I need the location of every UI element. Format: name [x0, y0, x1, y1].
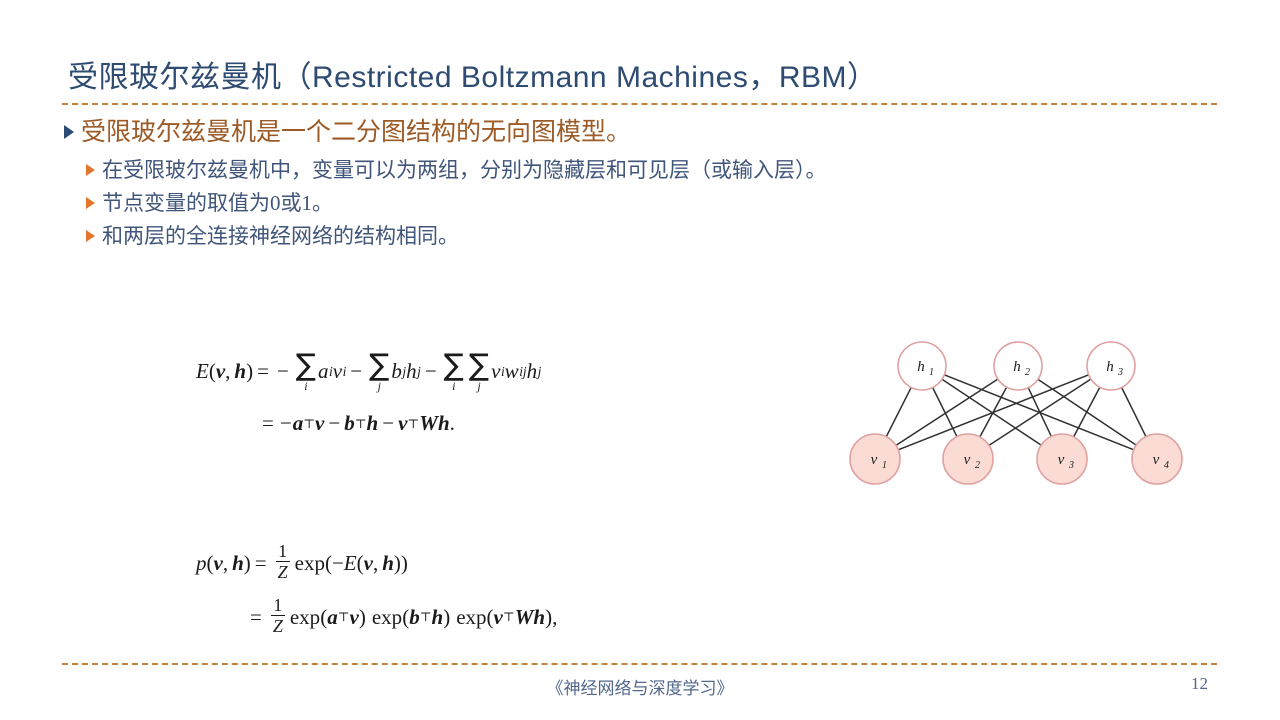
denominator: Z — [271, 617, 285, 636]
comma: , — [223, 551, 232, 576]
bullet-text: 和两层的全连接神经网络的结构相同。 — [102, 221, 459, 251]
transpose-mark: ⊤ — [503, 609, 515, 625]
graph-node-v1: v1 — [850, 434, 900, 484]
transpose-mark: ⊤ — [420, 609, 432, 625]
vector-v: v — [214, 551, 223, 576]
graph-node-h2: h2 — [994, 342, 1042, 390]
summation-over-i: ∑ i — [444, 353, 464, 392]
numerator: 1 — [271, 596, 284, 614]
vector-h: h — [232, 551, 244, 576]
sigma-glyph: ∑ — [444, 353, 464, 379]
paren: ( — [487, 605, 494, 630]
vector-v: v — [494, 605, 503, 630]
sum-index: i — [304, 380, 307, 392]
vector-v: v — [350, 605, 359, 630]
footer-divider — [62, 663, 1217, 665]
matrix-W: W — [419, 411, 438, 436]
paren: ( — [320, 605, 327, 630]
energy-formula-line-1: E ( v , h ) = − ∑ i aivi − ∑ j bjhj − ∑ … — [196, 352, 541, 391]
paren: ) — [244, 551, 251, 576]
exp-function: exp — [372, 605, 402, 630]
fraction-one-over-Z: 1 Z — [276, 542, 290, 582]
graph-node-h1: h1 — [898, 342, 946, 390]
minus-sign: − — [273, 359, 293, 384]
symbol-v: v — [491, 359, 500, 384]
list-item: 受限玻尔兹曼机是一个二分图结构的无向图模型。 — [64, 116, 1224, 149]
graph-nodes: h1h2h3v1v2v3v4 — [850, 342, 1182, 484]
graph-node-v2: v2 — [943, 434, 993, 484]
equals-sign: = — [246, 605, 266, 630]
node-label: v — [1153, 452, 1160, 468]
exp-function: exp — [295, 551, 325, 576]
symbol-w: w — [505, 359, 519, 384]
bullet-triangle-icon — [64, 125, 74, 139]
vector-a: a — [293, 411, 304, 436]
paren: ) — [246, 359, 253, 384]
node-subscript: 4 — [1164, 460, 1169, 471]
bullet-text: 节点变量的取值为0或1。 — [102, 188, 333, 218]
node-subscript: 2 — [1025, 367, 1030, 378]
graph-node-h3: h3 — [1087, 342, 1135, 390]
summation-over-i: ∑ i — [296, 353, 316, 392]
bullet-list: 受限玻尔兹曼机是一个二分图结构的无向图模型。 在受限玻尔兹曼机中，变量可以为两组… — [64, 116, 1224, 254]
sum-index: j — [378, 380, 381, 392]
probability-formula: p ( v , h ) = 1 Z exp(−E(v,h)) = 1 Z exp… — [196, 543, 557, 637]
rbm-bipartite-graph: h1h2h3v1v2v3v4 — [840, 330, 1200, 500]
paren: ( — [357, 551, 364, 576]
node-label: h — [1013, 359, 1021, 375]
symbol-a: a — [318, 359, 329, 384]
node-label: h — [1106, 359, 1114, 375]
graph-edge-h1-v1 — [886, 387, 911, 436]
graph-node-v3: v3 — [1037, 434, 1087, 484]
node-subscript: 3 — [1068, 460, 1074, 471]
bullet-text: 受限玻尔兹曼机是一个二分图结构的无向图模型。 — [81, 116, 631, 149]
vector-v: v — [315, 411, 324, 436]
bullet-triangle-icon — [86, 164, 95, 176]
exp-function: exp — [290, 605, 320, 630]
title-divider — [62, 103, 1217, 105]
denominator: Z — [276, 563, 290, 582]
probability-formula-line-2: = 1 Z exp(a⊤v) exp(b⊤h) exp(v⊤Wh), — [246, 597, 557, 637]
transpose-mark: ⊤ — [355, 416, 367, 432]
vector-h: h — [432, 605, 444, 630]
sum-index: j — [477, 380, 480, 392]
minus-sign: − — [324, 411, 344, 436]
sigma-glyph: ∑ — [369, 353, 389, 379]
graph-node-v4: v4 — [1132, 434, 1182, 484]
subscript: j — [537, 364, 541, 380]
slide-canvas: 受限玻尔兹曼机（Restricted Boltzmann Machines，RB… — [0, 0, 1280, 720]
list-item: 在受限玻尔兹曼机中，变量可以为两组，分别为隐藏层和可见层（或输入层）。 — [86, 155, 1224, 185]
paren: ) — [545, 605, 552, 630]
comma: , — [225, 359, 234, 384]
energy-formula-line-2: = − a⊤v − b⊤h − v⊤Wh. — [258, 411, 541, 436]
list-item: 节点变量的取值为0或1。 — [86, 188, 1224, 218]
probability-formula-line-1: p ( v , h ) = 1 Z exp(−E(v,h)) — [196, 543, 557, 583]
vector-a: a — [327, 605, 338, 630]
graph-edge-h2-v1 — [896, 379, 998, 445]
bullet-triangle-icon — [86, 197, 95, 209]
paren: ( — [209, 359, 216, 384]
symbol-h: h — [527, 359, 538, 384]
comma: , — [373, 551, 382, 576]
comma: , — [552, 605, 557, 630]
symbol-E: E — [196, 359, 209, 384]
vector-h: h — [234, 359, 246, 384]
node-subscript: 1 — [929, 367, 934, 378]
vector-v: v — [216, 359, 225, 384]
symbol-p: p — [196, 551, 207, 576]
vector-h: h — [382, 551, 394, 576]
node-label: v — [1058, 452, 1065, 468]
vector-h: h — [533, 605, 545, 630]
period: . — [450, 411, 455, 436]
fraction-one-over-Z: 1 Z — [271, 596, 285, 636]
footer-book-title: 《神经网络与深度学习》 — [0, 674, 1280, 699]
paren: ) — [401, 551, 408, 576]
summation-over-j: ∑ j — [469, 353, 489, 392]
paren: ( — [325, 551, 332, 576]
minus-sign: − — [278, 411, 293, 436]
graph-edge-h1-v2 — [933, 388, 957, 437]
minus-sign: − — [378, 411, 398, 436]
symbol-h: h — [406, 359, 417, 384]
node-subscript: 2 — [975, 460, 980, 471]
exp-function: exp — [456, 605, 486, 630]
transpose-mark: ⊤ — [338, 609, 350, 625]
minus-sign: − — [421, 359, 441, 384]
vector-v: v — [398, 411, 407, 436]
node-label: v — [964, 452, 971, 468]
bullet-triangle-icon — [86, 230, 95, 242]
matrix-W: W — [515, 605, 534, 630]
paren: ) — [443, 605, 450, 630]
graph-edge-h3-v4 — [1122, 388, 1146, 437]
list-item: 和两层的全连接神经网络的结构相同。 — [86, 221, 1224, 251]
page-title: 受限玻尔兹曼机（Restricted Boltzmann Machines，RB… — [68, 58, 1218, 98]
sigma-glyph: ∑ — [296, 353, 316, 379]
numerator: 1 — [276, 542, 289, 560]
vector-b: b — [344, 411, 355, 436]
equals-sign: = — [253, 359, 273, 384]
equals-sign: = — [251, 551, 271, 576]
graph-edge-h3-v2 — [989, 379, 1091, 445]
paren: ) — [394, 551, 401, 576]
node-label: v — [871, 452, 878, 468]
sum-index: i — [452, 380, 455, 392]
graph-edge-h3-v3 — [1074, 387, 1100, 437]
subscript: ij — [519, 364, 527, 380]
vector-v: v — [364, 551, 373, 576]
sigma-glyph: ∑ — [469, 353, 489, 379]
paren: ) — [359, 605, 366, 630]
graph-svg: h1h2h3v1v2v3v4 — [840, 330, 1200, 500]
paren: ( — [402, 605, 409, 630]
node-subscript: 3 — [1117, 367, 1123, 378]
vector-h: h — [367, 411, 379, 436]
transpose-mark: ⊤ — [407, 416, 419, 432]
node-subscript: 1 — [882, 460, 887, 471]
bullet-text: 在受限玻尔兹曼机中，变量可以为两组，分别为隐藏层和可见层（或输入层）。 — [102, 155, 827, 185]
page-number: 12 — [1191, 674, 1208, 694]
symbol-b: b — [391, 359, 402, 384]
energy-function-formula: E ( v , h ) = − ∑ i aivi − ∑ j bjhj − ∑ … — [196, 352, 541, 436]
paren: ( — [207, 551, 214, 576]
transpose-mark: ⊤ — [303, 416, 315, 432]
minus-sign: − — [332, 551, 344, 576]
node-label: h — [917, 359, 925, 375]
symbol-v: v — [333, 359, 342, 384]
minus-sign: − — [346, 359, 366, 384]
vector-b: b — [409, 605, 420, 630]
symbol-E: E — [344, 551, 357, 576]
vector-h: h — [438, 411, 450, 436]
equals-sign: = — [258, 411, 278, 436]
summation-over-j: ∑ j — [369, 353, 389, 392]
